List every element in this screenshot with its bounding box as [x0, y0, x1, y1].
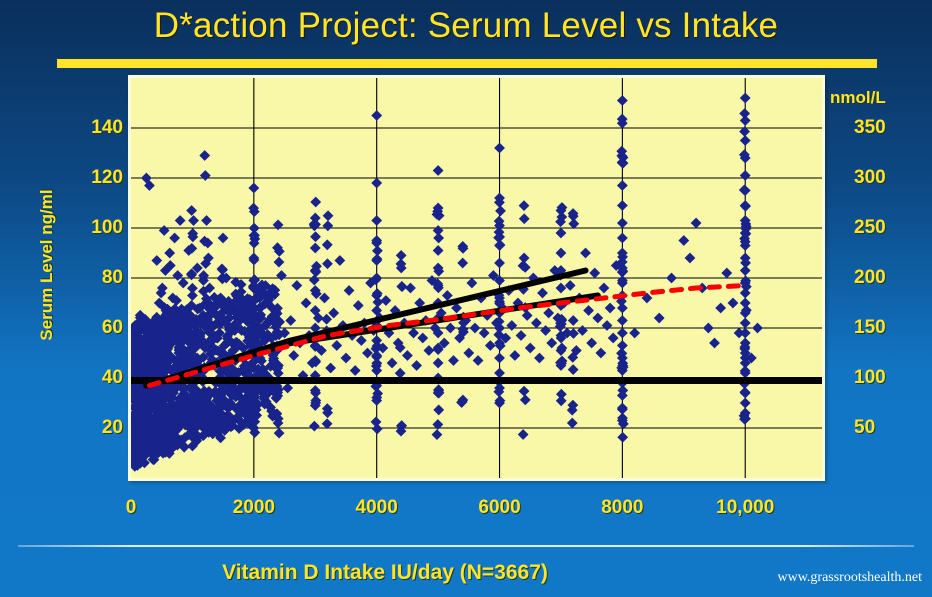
- y-tick-label-left: 140: [91, 117, 123, 139]
- slide-root: D*action Project: Serum Level vs Intake …: [0, 0, 932, 597]
- x-tick-label: 0: [126, 497, 137, 519]
- y-tick-label-left: 100: [91, 217, 123, 239]
- y-tick-label-right: 200: [854, 267, 886, 289]
- y-axis-ticks-left: 14012010080604020: [55, 78, 123, 478]
- y-tick-label-right: 100: [854, 367, 886, 389]
- y-tick-label-right: 50: [854, 417, 875, 439]
- y-tick-label-left: 60: [102, 317, 123, 339]
- y-tick-label-right: 250: [854, 217, 886, 239]
- footer-divider: [18, 545, 914, 547]
- y-tick-label-right: 150: [854, 317, 886, 339]
- title-underline-bar: [57, 59, 877, 68]
- website-credit: www.grassrootshealth.net: [777, 570, 922, 586]
- page-title: D*action Project: Serum Level vs Intake: [0, 6, 932, 46]
- x-tick-label: 6000: [478, 497, 520, 519]
- y-tick-label-right: 300: [854, 167, 886, 189]
- x-tick-label: 8000: [601, 497, 643, 519]
- y-tick-label-left: 120: [91, 167, 123, 189]
- scatter-plot-area: [131, 78, 822, 478]
- y-tick-label-left: 20: [102, 417, 123, 439]
- y-axis-title-left: Serum Level ng/ml: [37, 155, 57, 375]
- chart-svg: [131, 78, 822, 478]
- y-axis-ticks-right: 35030025020015010050: [840, 78, 920, 478]
- x-axis-title: Vitamin D Intake IU/day (N=3667): [0, 561, 770, 585]
- x-tick-label: 10,000: [716, 497, 774, 519]
- y-tick-label-right: 350: [854, 117, 886, 139]
- y-tick-label-left: 80: [102, 267, 123, 289]
- x-axis-ticks: 0200040006000800010,000: [0, 497, 932, 523]
- y-tick-label-left: 40: [102, 367, 123, 389]
- x-tick-label: 2000: [233, 497, 275, 519]
- x-tick-label: 4000: [356, 497, 398, 519]
